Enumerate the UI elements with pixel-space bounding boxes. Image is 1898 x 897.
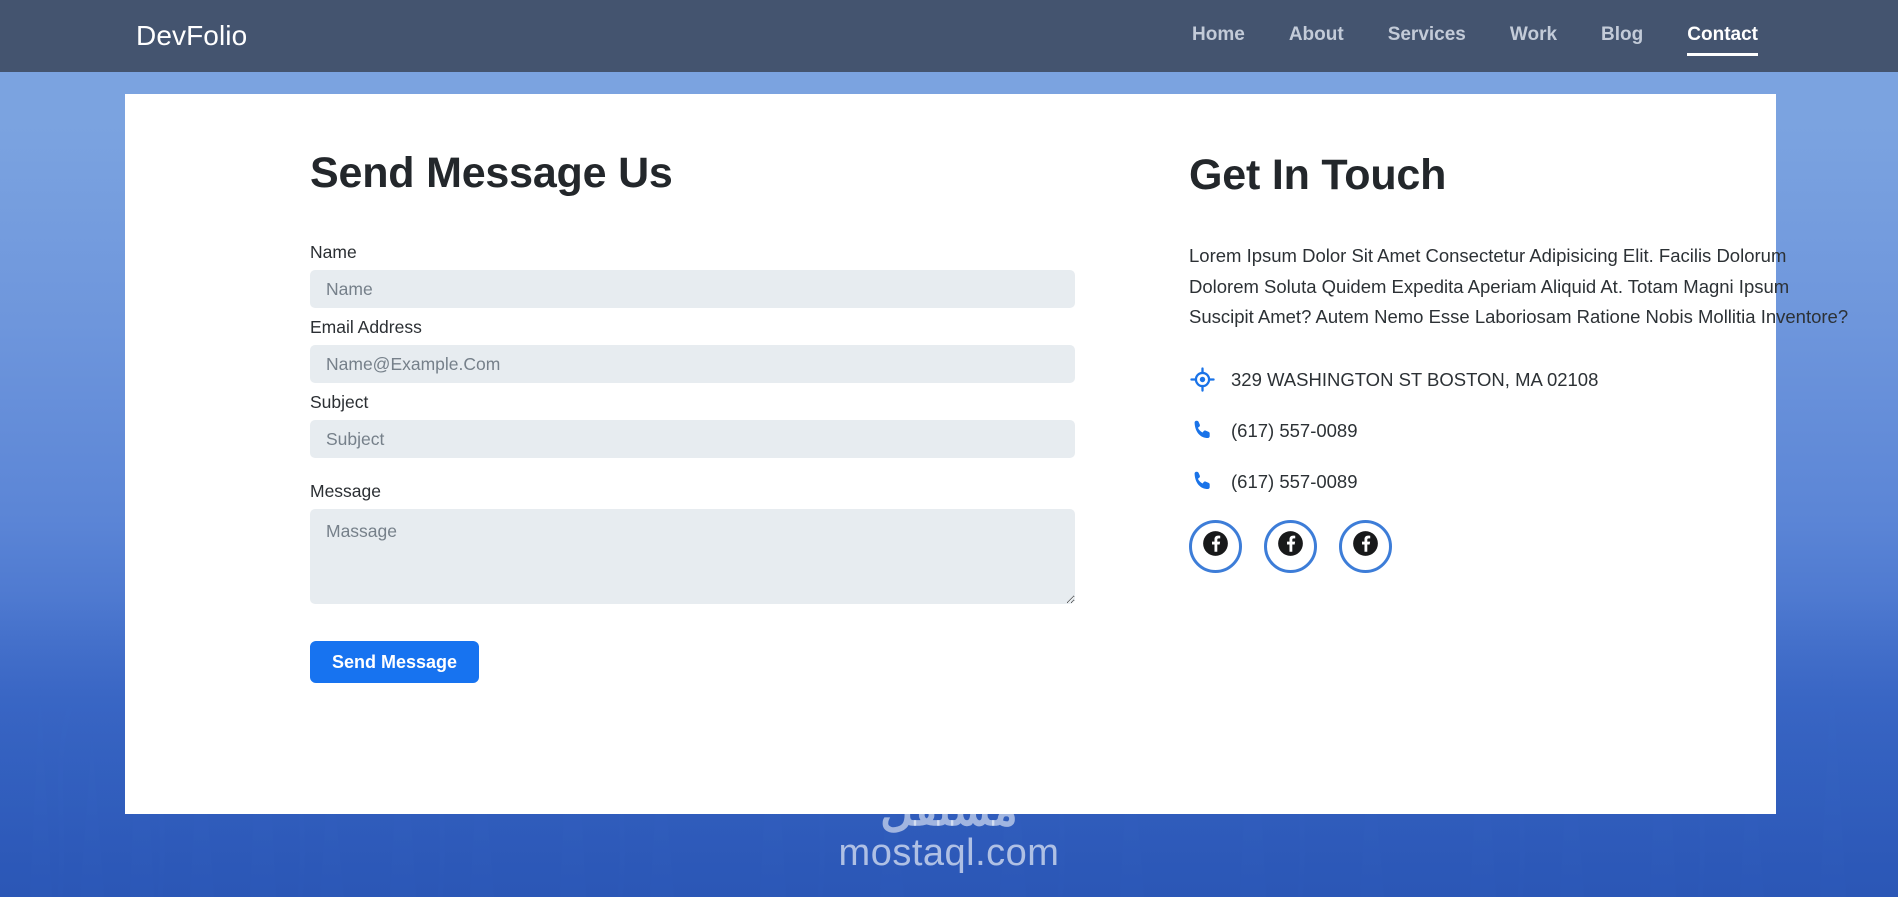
facebook-icon xyxy=(1352,530,1379,562)
send-message-section: Send Message Us Name Email Address Subje… xyxy=(185,150,1005,814)
contact-detail-address: 329 WASHINGTON ST BOSTON, MA 02108 xyxy=(1189,367,1849,393)
nav-links: Home About Services Work Blog Contact xyxy=(1192,24,1758,49)
phone-text-2: (617) 557-0089 xyxy=(1231,471,1358,493)
get-in-touch-section: Get In Touch Lorem Ipsum Dolor Sit Amet … xyxy=(1005,150,1849,814)
subject-input[interactable] xyxy=(310,420,1075,458)
facebook-icon xyxy=(1202,530,1229,562)
content-card: Send Message Us Name Email Address Subje… xyxy=(125,94,1776,814)
nav-link-contact[interactable]: Contact xyxy=(1687,24,1758,49)
social-link-facebook-3[interactable] xyxy=(1339,520,1392,573)
message-label: Message xyxy=(310,481,1075,502)
phone-icon xyxy=(1189,469,1215,495)
get-in-touch-paragraph: Lorem Ipsum Dolor Sit Amet Consectetur A… xyxy=(1189,241,1849,333)
get-in-touch-title: Get In Touch xyxy=(1189,152,1849,199)
contact-detail-phone-2: (617) 557-0089 xyxy=(1189,469,1849,495)
facebook-icon xyxy=(1277,530,1304,562)
name-label: Name xyxy=(310,242,1075,263)
message-textarea[interactable] xyxy=(310,509,1075,604)
field-group-name: Name xyxy=(310,242,1075,308)
contact-details-list: 329 WASHINGTON ST BOSTON, MA 02108 (617)… xyxy=(1189,367,1849,495)
field-group-email: Email Address xyxy=(310,317,1075,383)
location-target-icon xyxy=(1189,367,1215,393)
address-text: 329 WASHINGTON ST BOSTON, MA 02108 xyxy=(1231,369,1598,391)
contact-form: Name Email Address Subject Message Send … xyxy=(310,242,1075,683)
field-group-message: Message xyxy=(310,481,1075,604)
social-link-facebook-1[interactable] xyxy=(1189,520,1242,573)
name-input[interactable] xyxy=(310,270,1075,308)
nav-link-about[interactable]: About xyxy=(1289,24,1344,49)
field-group-subject: Subject xyxy=(310,392,1075,458)
nav-link-blog[interactable]: Blog xyxy=(1601,24,1643,49)
contact-detail-phone-1: (617) 557-0089 xyxy=(1189,418,1849,444)
brand-logo[interactable]: DevFolio xyxy=(136,20,247,52)
subject-label: Subject xyxy=(310,392,1075,413)
send-message-title: Send Message Us xyxy=(310,150,1005,197)
send-message-button[interactable]: Send Message xyxy=(310,641,479,683)
social-link-facebook-2[interactable] xyxy=(1264,520,1317,573)
nav-link-home[interactable]: Home xyxy=(1192,24,1245,49)
nav-link-work[interactable]: Work xyxy=(1510,24,1557,49)
email-label: Email Address xyxy=(310,317,1075,338)
phone-icon xyxy=(1189,418,1215,444)
social-links-row xyxy=(1189,520,1849,573)
nav-link-services[interactable]: Services xyxy=(1388,24,1466,49)
phone-text-1: (617) 557-0089 xyxy=(1231,420,1358,442)
email-input[interactable] xyxy=(310,345,1075,383)
top-navigation-bar: DevFolio Home About Services Work Blog C… xyxy=(0,0,1898,72)
